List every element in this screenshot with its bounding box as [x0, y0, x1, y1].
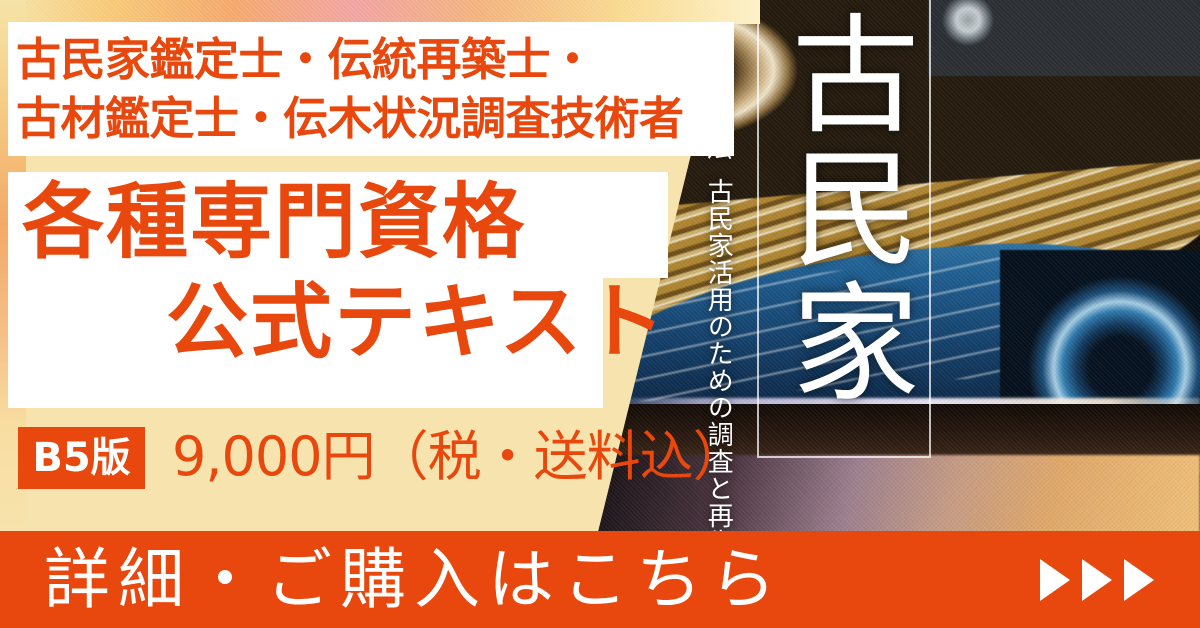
triangle-right-icon: [1040, 559, 1070, 601]
triangle-right-icon: [1082, 559, 1112, 601]
qualifications-heading-line2: 古材鑑定士・伝木状況調査技術者: [16, 89, 732, 148]
cta-arrow-group: [1040, 559, 1154, 601]
format-badge: B5版: [18, 427, 145, 489]
qualifications-heading-line1: 古民家鑑定士・伝統再築士・: [16, 33, 595, 86]
format-badge-label: B5版: [32, 438, 130, 478]
book-cover-title: 古民家: [775, 8, 915, 458]
triangle-right-icon: [1124, 559, 1154, 601]
cta-bar[interactable]: 詳細・ご購入はこちら: [0, 531, 1200, 628]
main-title-line2: 公式テキスト: [166, 282, 668, 364]
main-title-line1: 各種専門資格: [22, 182, 526, 264]
qualifications-heading: 古民家鑑定士・伝統再築士・ 古材鑑定士・伝木状況調査技術者: [16, 30, 732, 149]
book-cover-subtitle-main: 古民家活用のための調査と再生の: [702, 178, 733, 583]
promo-banner: 古民家 伝統構法 古民家活用のための調査と再生の 古民家鑑定士・伝統再築士・ 古…: [0, 0, 1200, 628]
cta-label: 詳細・ご購入はこちら: [44, 547, 784, 613]
price-label: 9,000円（税・送料込）: [172, 430, 746, 484]
